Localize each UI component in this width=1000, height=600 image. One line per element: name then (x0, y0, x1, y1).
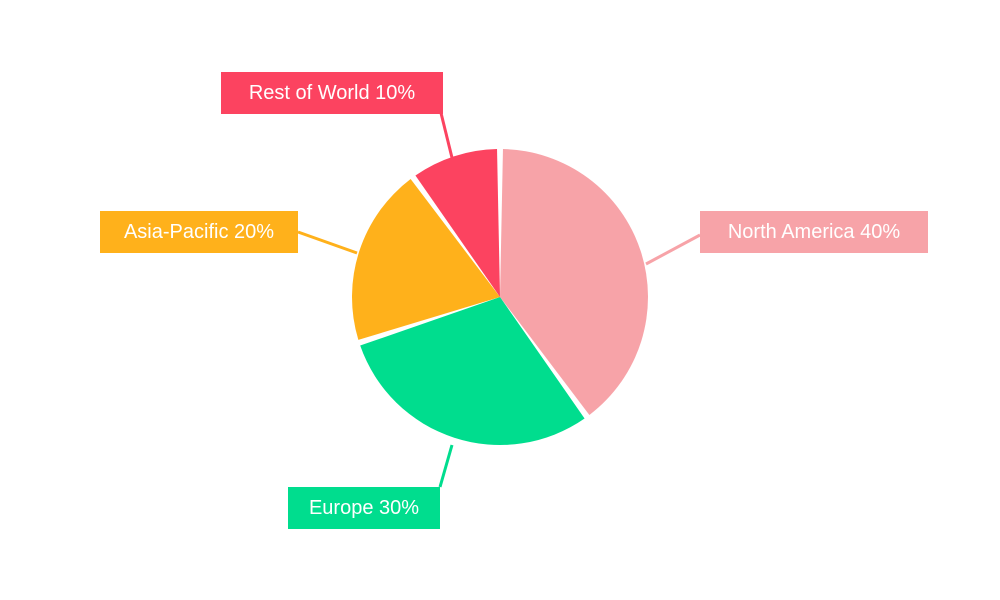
slice-label-asia-pacific[interactable]: Asia-Pacific 20% (100, 211, 298, 253)
leader-line-asia-pacific (298, 232, 357, 253)
leader-line-north-america (646, 235, 700, 264)
slice-label-rest-of-world[interactable]: Rest of World 10% (221, 72, 443, 114)
slice-label-text: Rest of World 10% (249, 83, 415, 103)
pie-chart-figure: North America 40% Europe 30% Asia-Pacifi… (0, 0, 1000, 600)
pie-slice-group (352, 149, 648, 445)
slice-label-text: Asia-Pacific 20% (124, 222, 274, 242)
leader-line-europe (440, 445, 452, 487)
pie-chart-canvas (0, 0, 1000, 600)
slice-label-europe[interactable]: Europe 30% (288, 487, 440, 529)
slice-label-north-america[interactable]: North America 40% (700, 211, 928, 253)
slice-label-text: Europe 30% (309, 498, 419, 518)
slice-label-text: North America 40% (728, 222, 900, 242)
